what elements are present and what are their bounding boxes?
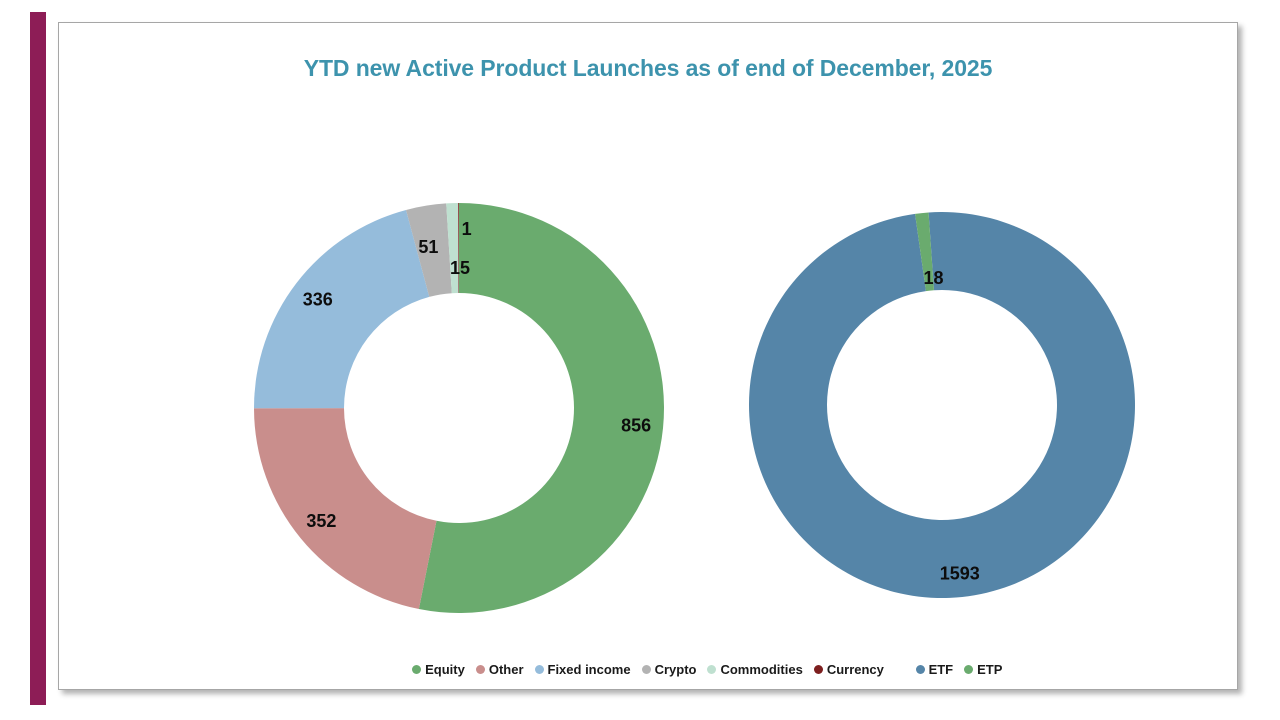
legend-swatch-icon bbox=[412, 665, 421, 674]
legend-item-label: ETP bbox=[977, 663, 1002, 676]
donut-value-label: 51 bbox=[418, 237, 438, 257]
donut-slice-fixed-income[interactable] bbox=[254, 210, 429, 408]
legend-item-label: Other bbox=[489, 663, 524, 676]
donut-value-label: 336 bbox=[303, 290, 333, 310]
slide-accent-bar bbox=[30, 12, 46, 705]
donut-value-label: 15 bbox=[450, 258, 470, 278]
legend-item-etp[interactable]: ETP bbox=[964, 663, 1002, 676]
legend-swatch-icon bbox=[642, 665, 651, 674]
legend-swatch-icon bbox=[964, 665, 973, 674]
donut-value-label: 1 bbox=[462, 219, 472, 239]
legend-swatch-icon bbox=[916, 665, 925, 674]
donut-value-label: 18 bbox=[924, 268, 944, 288]
legend-item-fixed-income[interactable]: Fixed income bbox=[535, 663, 631, 676]
product-type-donut-chart: 159318 bbox=[679, 23, 1239, 691]
donut-value-label: 1593 bbox=[940, 564, 980, 584]
slide-root: YTD new Active Product Launches as of en… bbox=[0, 0, 1280, 720]
legend-item-other[interactable]: Other bbox=[476, 663, 524, 676]
donut-value-label: 352 bbox=[306, 511, 336, 531]
slide-content-card: YTD new Active Product Launches as of en… bbox=[58, 22, 1238, 690]
asset-class-chart-panel: 85635233651151 bbox=[119, 23, 679, 691]
legend-item-label: Fixed income bbox=[548, 663, 631, 676]
legend-swatch-icon bbox=[535, 665, 544, 674]
legend-item-label: Equity bbox=[425, 663, 465, 676]
product-type-legend: ETFETP bbox=[679, 663, 1239, 676]
product-type-chart-panel: 159318 bbox=[679, 23, 1239, 691]
legend-item-etf[interactable]: ETF bbox=[916, 663, 954, 676]
legend-swatch-icon bbox=[476, 665, 485, 674]
asset-class-donut-chart: 85635233651151 bbox=[119, 23, 679, 691]
legend-item-label: ETF bbox=[929, 663, 954, 676]
legend-item-equity[interactable]: Equity bbox=[412, 663, 465, 676]
donut-slice-other[interactable] bbox=[254, 408, 436, 609]
donut-value-label: 856 bbox=[621, 416, 651, 436]
